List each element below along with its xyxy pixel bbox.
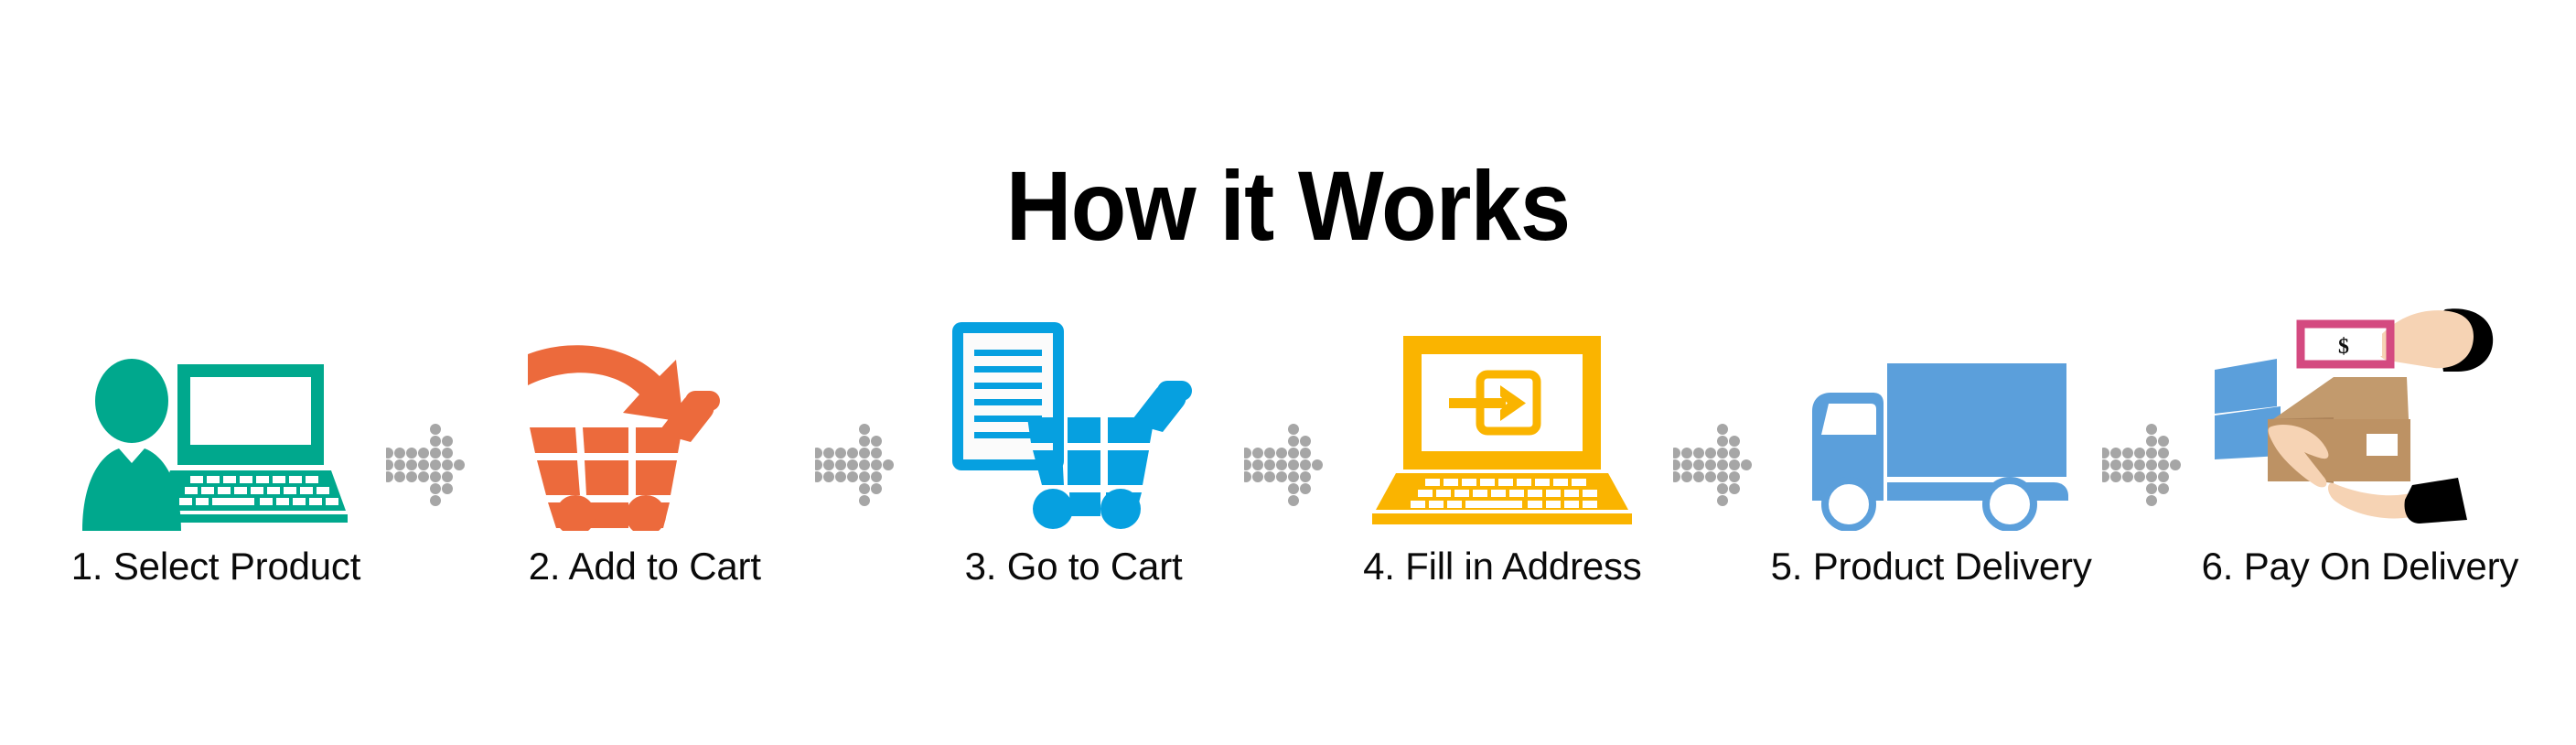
document-and-cart-icon <box>950 320 1197 531</box>
step-1-select-product[interactable]: 1. Select Product <box>46 302 386 632</box>
step-5-art <box>1761 302 2101 531</box>
step-5-label: 5. Product Delivery <box>1771 545 2092 588</box>
cash-on-delivery-icon: $ <box>2209 304 2511 531</box>
connector-5 <box>2102 350 2190 578</box>
dotted-arrow-right-icon <box>1244 420 1332 508</box>
dotted-arrow-right-icon <box>815 420 903 508</box>
laptop-login-icon <box>1365 334 1639 531</box>
step-4-fill-in-address[interactable]: 4. Fill in Address <box>1332 302 1672 632</box>
connector-3 <box>1244 350 1332 578</box>
steps-strip: 1. Select Product <box>46 302 2530 632</box>
person-at-laptop-icon <box>79 348 353 531</box>
step-2-label: 2. Add to Cart <box>529 545 761 588</box>
step-3-art <box>904 302 1244 531</box>
dotted-arrow-right-icon <box>2102 420 2190 508</box>
step-1-label: 1. Select Product <box>71 545 360 588</box>
page-title: How it Works <box>103 154 2474 257</box>
connector-2 <box>815 350 903 578</box>
dotted-arrow-right-icon <box>1673 420 1761 508</box>
step-5-product-delivery[interactable]: 5. Product Delivery <box>1761 302 2101 632</box>
banknote-dollar-symbol: $ <box>2338 335 2349 359</box>
step-6-label: 6. Pay On Delivery <box>2202 545 2519 588</box>
step-4-label: 4. Fill in Address <box>1363 545 1642 588</box>
step-2-add-to-cart[interactable]: 2. Add to Cart <box>475 302 815 632</box>
cart-with-arrow-icon <box>522 334 767 531</box>
how-it-works-infographic: How it Works <box>0 0 2576 745</box>
step-4-art <box>1332 302 1672 531</box>
step-3-go-to-cart[interactable]: 3. Go to Cart <box>904 302 1244 632</box>
delivery-truck-icon <box>1785 362 2077 531</box>
step-6-art: $ <box>2190 302 2530 531</box>
connector-1 <box>386 350 474 578</box>
step-2-art <box>475 302 815 531</box>
step-3-label: 3. Go to Cart <box>965 545 1183 588</box>
step-1-art <box>46 302 386 531</box>
step-6-pay-on-delivery[interactable]: $ <box>2190 302 2530 632</box>
dotted-arrow-right-icon <box>386 420 474 508</box>
connector-4 <box>1673 350 1761 578</box>
